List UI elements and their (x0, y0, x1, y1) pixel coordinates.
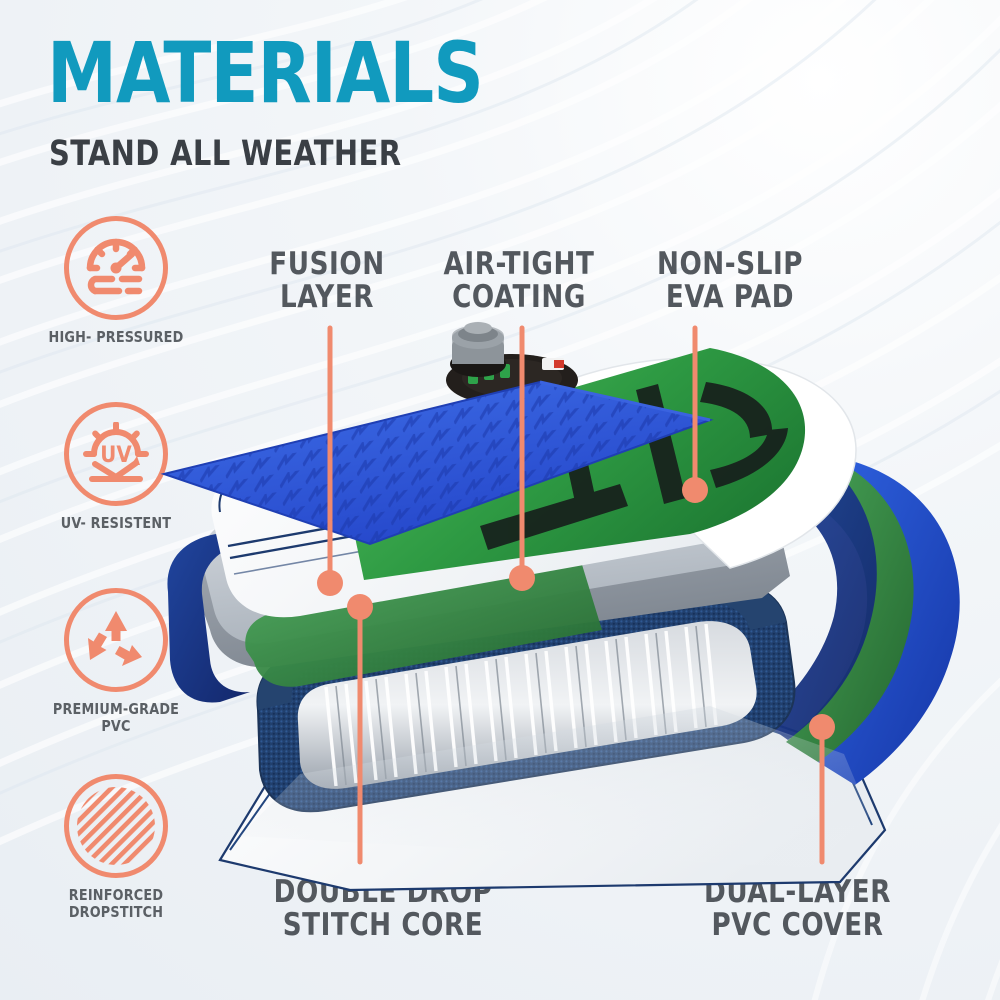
feature-label: REINFORCED DROPSTITCH (40, 887, 192, 921)
infographic-canvas: MATERIALS STAND ALL WEATHER (0, 0, 1000, 1000)
callout-label-fusion-layer: FUSION LAYER (262, 248, 392, 315)
page-subtitle: STAND ALL WEATHER (49, 137, 401, 172)
callout-label-non-slip-eva-pad: NON-SLIP EVA PAD (650, 248, 810, 315)
feature-high-pressured[interactable]: HIGH- PRESSURED (36, 216, 196, 346)
svg-text:UV: UV (100, 443, 132, 468)
page-title: MATERIALS (47, 34, 483, 113)
callout-label-air-tight-coating: AIR-TIGHT COATING (433, 248, 604, 315)
pressure-gauge-icon (64, 216, 168, 320)
exploded-board-illustration (150, 330, 1000, 890)
